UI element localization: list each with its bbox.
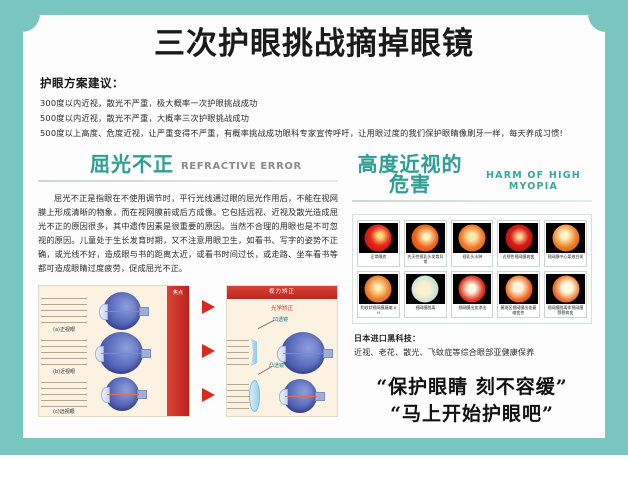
fundus-caption: 近视性视网膜病变 <box>500 254 537 259</box>
leader-line <box>258 320 274 329</box>
fundus-caption: 豹纹状视网膜萎缩 он <box>360 305 397 315</box>
light-rays-icon <box>227 340 249 366</box>
fundus-caption: 视网膜脱离伴视网膜劈裂病变 <box>547 305 584 315</box>
retina-disc <box>552 224 579 251</box>
fundus-photo <box>453 223 492 253</box>
eye-row-emmetropia: (a)正视眼 <box>39 290 189 332</box>
fundus-photo <box>406 223 445 253</box>
fundus-cell: 视乳头水肿 <box>451 220 494 267</box>
fundus-caption: 黄斑区视网膜出血萎缩变性 <box>500 305 537 315</box>
retina-disc <box>505 275 532 302</box>
lens-label: 凸透镜 <box>269 362 284 369</box>
slogan-line: “马上开始护眼吧” <box>352 401 592 429</box>
left-column: 屈光不正 REFRACTIVE ERROR 屈光不正是指眼在不使用调节时，平行光… <box>38 154 338 429</box>
advice-line: 300度以内近视，散光不严重，极大概率一次护眼挑战成功 <box>40 96 590 111</box>
cornea-icon <box>101 387 110 403</box>
eye-diagram: 焦点 (a)正视眼 <box>38 285 338 417</box>
fundus-photo <box>499 223 538 253</box>
fundus-caption: 视网膜出血渗出 <box>454 305 491 310</box>
fundus-cell: 近视性视网膜病变 <box>497 220 540 267</box>
fundus-photo <box>499 274 538 304</box>
fundus-photo <box>359 223 398 253</box>
left-section-paragraph: 屈光不正是指眼在不使用调节时，平行光线通过眼的屈光作用后，不能在视网膜上形成清晰… <box>38 191 338 276</box>
correction-subtitle: 光学矫正 <box>227 304 337 312</box>
fundus-grid-row-1: 正常眼底 先天性视乳头发育异常 视乳头水肿 近视性视网膜病变 <box>357 220 587 267</box>
retina-disc <box>412 275 439 302</box>
optic-nerve-icon <box>323 349 333 358</box>
eye-row-hyperopia: (c)远视眼 <box>39 374 189 416</box>
light-rays-icon <box>41 340 87 366</box>
arrow-right-icon <box>202 344 215 358</box>
lens-label: 凹透镜 <box>273 316 288 323</box>
light-rays-icon <box>41 382 87 408</box>
left-section-header: 屈光不正 REFRACTIVE ERROR <box>38 154 338 174</box>
fundus-caption: 视乳头水肿 <box>454 254 491 259</box>
light-rays-icon <box>41 298 87 324</box>
right-section-divider <box>352 200 592 202</box>
fundus-caption: 正常眼底 <box>360 254 397 259</box>
retina-disc <box>412 224 439 251</box>
fundus-cell: 豹纹状视网膜萎缩 он <box>357 271 400 318</box>
retina-disc <box>505 224 532 251</box>
light-rays-icon <box>227 384 249 410</box>
retina-disc <box>552 275 579 302</box>
right-column: 高度近视的危害 HARM OF HIGH MYOPIA 正常眼底 先天性视乳头发… <box>352 154 592 429</box>
optical-axis-icon <box>107 394 139 395</box>
slogan-block: “保护眼睛 刻不容缓” “马上开始护眼吧” <box>352 374 592 429</box>
cornea-icon <box>279 389 288 405</box>
right-section-title-en: HARM OF HIGH MYOPIA <box>475 166 592 194</box>
fundus-photo <box>406 274 445 304</box>
optical-axis-icon <box>101 353 141 354</box>
fundus-cell: 先天性视乳头发育异常 <box>404 220 447 267</box>
optical-axis-icon <box>105 311 141 312</box>
optic-nerve-icon <box>141 349 151 358</box>
tech-heading: 日本进口黑科技： <box>354 333 592 344</box>
fundus-cell: 视网膜脱离 <box>404 271 447 318</box>
arrow-right-icon <box>202 388 215 402</box>
poster-root: 三次护眼挑战摘掉眼镜 护眼方案建议： 300度以内近视，散光不严重，极大概率一次… <box>0 0 628 455</box>
slogan-line: “保护眼睛 刻不容缓” <box>352 374 592 402</box>
fundus-cell: 视网膜脱离伴视网膜劈裂病变 <box>544 271 587 318</box>
retina-disc <box>458 275 485 302</box>
diagram-arrows <box>197 285 219 417</box>
fundus-photo <box>453 274 492 304</box>
advice-heading: 护眼方案建议： <box>40 75 590 91</box>
convex-lens-icon <box>249 380 260 412</box>
left-section-divider <box>38 180 338 182</box>
page-title: 三次护眼挑战摘掉眼镜 <box>22 14 606 61</box>
retina-disc <box>458 224 485 251</box>
tech-body: 近视、老花、散光、飞蚊症等综合眼部亚健康保养 <box>354 347 592 358</box>
left-section-title-en: REFRACTIVE ERROR <box>181 161 302 174</box>
retina-disc <box>365 275 392 302</box>
left-section-title-cn: 屈光不正 <box>90 154 174 174</box>
fundus-cell: 正常眼底 <box>357 220 400 267</box>
eye-row-myopia: (b)近视眼 <box>39 332 189 374</box>
right-section-title-cn: 高度近视的危害 <box>352 154 468 194</box>
corrected-hyperopia-row: 凸透镜 <box>227 376 337 418</box>
poster-panel: 三次护眼挑战摘掉眼镜 护眼方案建议： 300度以内近视，散光不严重，极大概率一次… <box>22 14 606 439</box>
fundus-photo <box>359 274 398 304</box>
cornea-icon <box>99 304 108 320</box>
diagram-uncorrected-panel: 焦点 (a)正视眼 <box>38 285 190 417</box>
fundus-photo <box>546 274 585 304</box>
retina-disc <box>365 224 392 251</box>
correction-header: 视力矫正 <box>227 286 337 299</box>
cornea-icon <box>277 346 286 362</box>
advice-line: 500度以上高度、危度近视，让严重变得不严重，有概率挑战成功眼科专家宣传呼吁，让… <box>40 126 590 141</box>
fundus-grid-wrap: 正常眼底 先天性视乳头发育异常 视乳头水肿 近视性视网膜病变 <box>352 214 592 324</box>
fundus-photo <box>546 223 585 253</box>
fundus-cell: 视网膜中心浆液白斑 <box>544 220 587 267</box>
arrow-right-icon <box>202 300 215 314</box>
fundus-grid-row-2: 豹纹状视网膜萎缩 он 视网膜脱离 视网膜出血渗出 黄斑区视网膜出血萎 <box>357 271 587 318</box>
advice-block: 护眼方案建议： 300度以内近视，散光不严重，极大概率一次护眼挑战成功 500度… <box>22 61 606 142</box>
advice-line: 500度以内近视，散光不严重，大概率三次护眼挑战成功 <box>40 111 590 126</box>
fundus-caption: 视网膜中心浆液白斑 <box>547 254 584 259</box>
diagram-corrected-panel: 视力矫正 光学矫正 凹透镜 <box>226 285 338 417</box>
concave-lens-icon <box>251 338 257 366</box>
optical-axis-icon <box>285 396 317 397</box>
cornea-icon <box>95 346 104 362</box>
fundus-caption: 先天性视乳头发育异常 <box>407 254 444 264</box>
eye-label: (c)远视眼 <box>53 408 75 415</box>
fundus-caption: 视网膜脱离 <box>407 305 444 310</box>
fundus-cell: 黄斑区视网膜出血萎缩变性 <box>497 271 540 318</box>
optical-axis-icon <box>283 353 323 354</box>
fundus-cell: 视网膜出血渗出 <box>451 271 494 318</box>
right-section-header: 高度近视的危害 HARM OF HIGH MYOPIA <box>352 154 592 194</box>
tech-block: 日本进口黑科技： 近视、老花、散光、飞蚊症等综合眼部亚健康保养 <box>352 333 592 358</box>
content-columns: 屈光不正 REFRACTIVE ERROR 屈光不正是指眼在不使用调节时，平行光… <box>22 142 606 429</box>
